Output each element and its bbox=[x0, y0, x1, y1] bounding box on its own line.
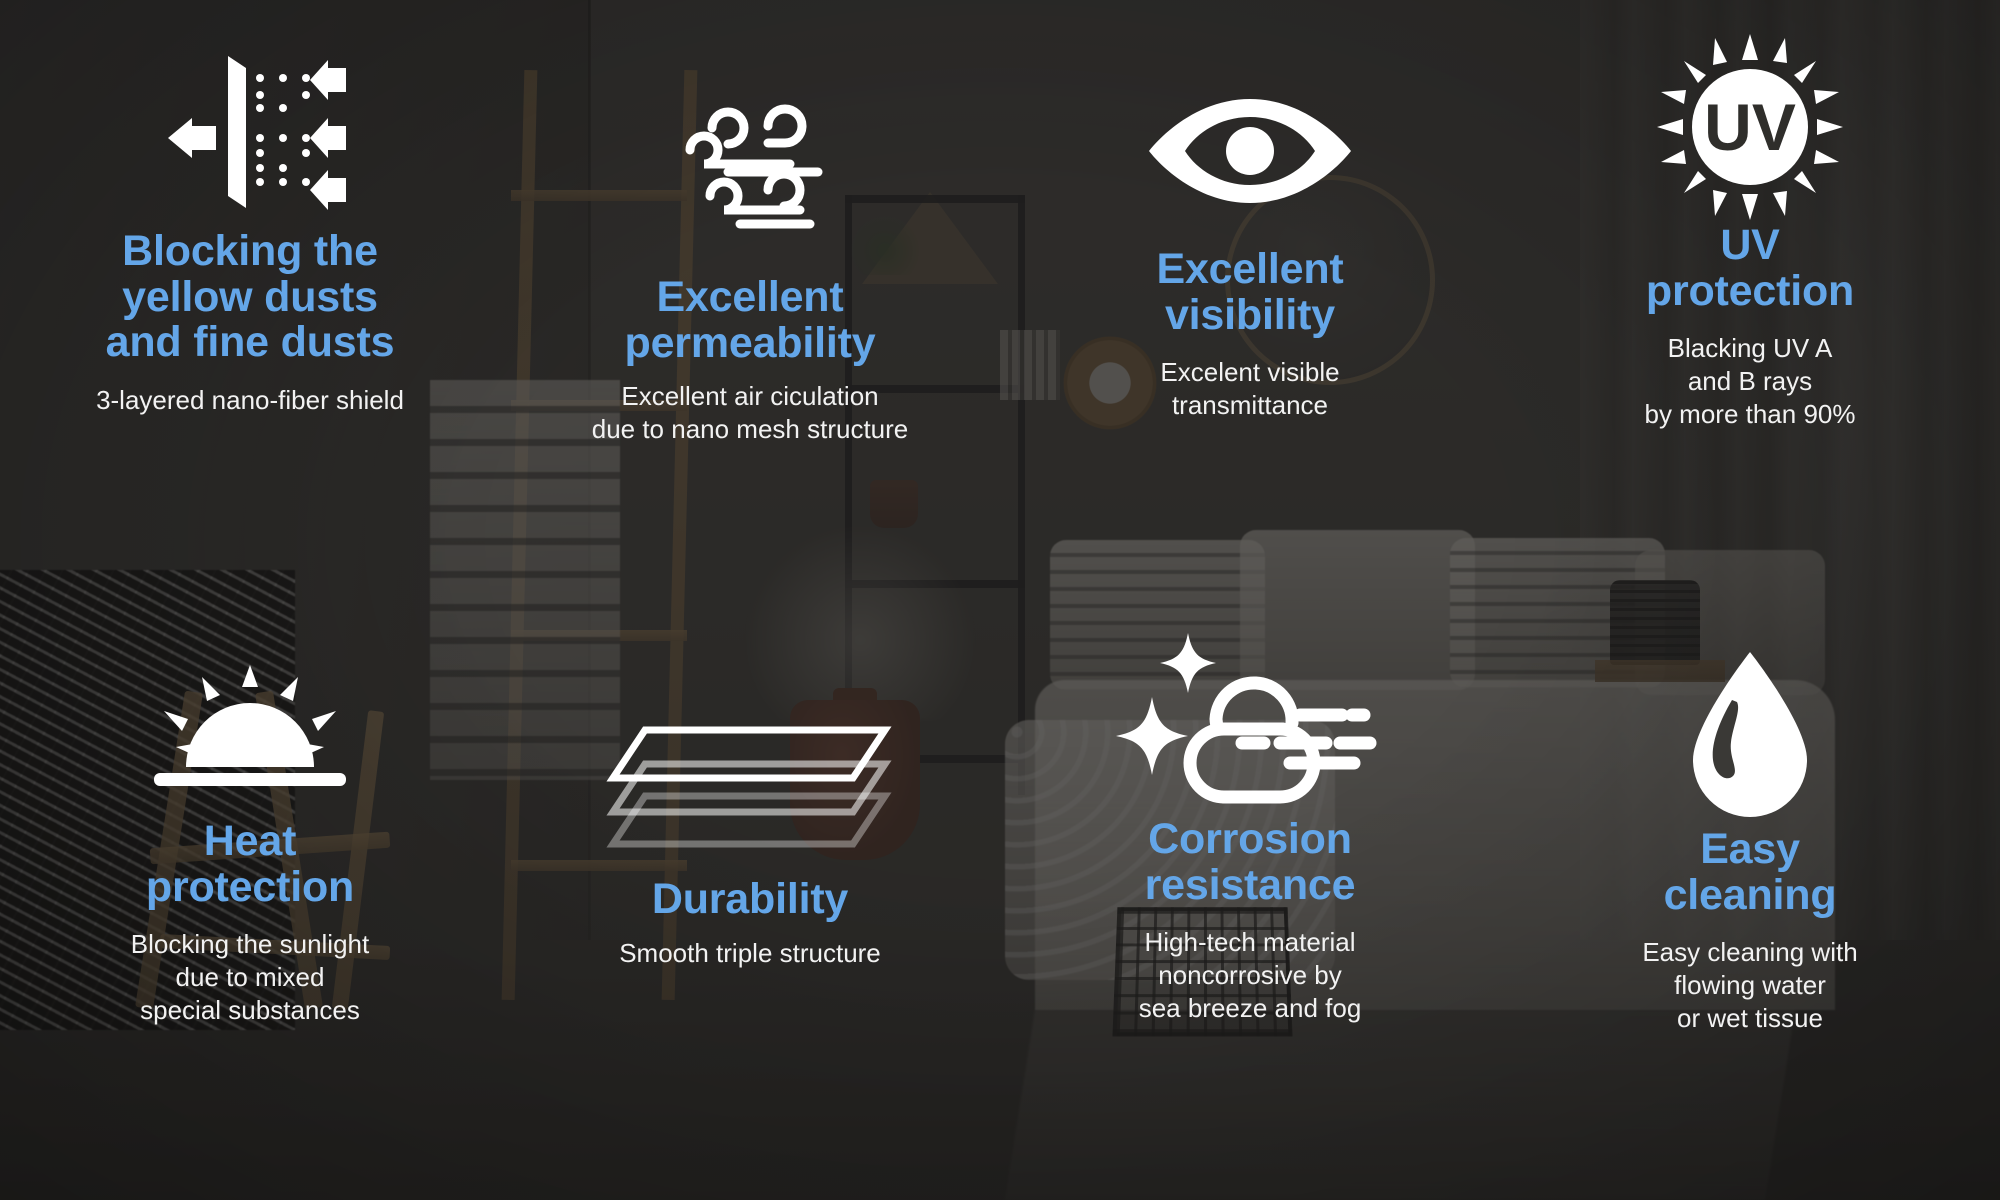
feature-corrosion-resistance: Corrosion resistance High-tech material … bbox=[1000, 600, 1500, 1200]
feature-description: Blacking UV A and B rays by more than 90… bbox=[1644, 332, 1855, 430]
feature-title: Excellent permeability bbox=[625, 275, 876, 366]
feature-easy-cleaning: Easy cleaning Easy cleaning with flowing… bbox=[1500, 600, 2000, 1200]
dust-barrier-icon bbox=[150, 50, 350, 215]
feature-permeability: Excellent permeability Excellent air cic… bbox=[500, 0, 1000, 600]
feature-title: Easy cleaning bbox=[1664, 827, 1837, 918]
feature-description: Excelent visible transmittance bbox=[1160, 356, 1339, 422]
triple-layers-icon bbox=[585, 708, 915, 863]
wind-icon bbox=[650, 96, 850, 261]
feature-description: Easy cleaning with flowing water or wet … bbox=[1642, 936, 1857, 1034]
feature-description: 3-layered nano-fiber shield bbox=[96, 384, 404, 417]
feature-title: UV protection bbox=[1646, 223, 1854, 314]
feature-description: High-tech material noncorrosive by sea b… bbox=[1139, 926, 1362, 1024]
water-drop-icon bbox=[1675, 658, 1825, 813]
feature-description: Blocking the sunlight due to mixed speci… bbox=[131, 928, 369, 1026]
uv-icon-label: UV bbox=[1704, 90, 1796, 164]
sunrise-icon bbox=[140, 650, 360, 805]
feature-title: Heat protection bbox=[146, 819, 354, 910]
eye-icon bbox=[1145, 68, 1355, 233]
feature-heat-protection: Heat protection Blocking the sunlight du… bbox=[0, 600, 500, 1200]
feature-title: Excellent visibility bbox=[1156, 247, 1343, 338]
feature-durability: Durability Smooth triple structure bbox=[500, 600, 1000, 1200]
infographic-root: Blocking the yellow dusts and fine dusts… bbox=[0, 0, 2000, 1200]
feature-description: Smooth triple structure bbox=[619, 937, 881, 970]
feature-title: Corrosion resistance bbox=[1145, 817, 1356, 908]
feature-grid: Blocking the yellow dusts and fine dusts… bbox=[0, 0, 2000, 1200]
feature-visibility: Excellent visibility Excelent visible tr… bbox=[1000, 0, 1500, 600]
feature-blocking-dusts: Blocking the yellow dusts and fine dusts… bbox=[0, 0, 500, 600]
feature-description: Excellent air ciculation due to nano mes… bbox=[592, 380, 909, 446]
feature-uv-protection: UV UV protection Blacking UV A and B ray… bbox=[1500, 0, 2000, 600]
feature-title: Durability bbox=[652, 877, 848, 923]
uv-sun-icon: UV bbox=[1655, 44, 1845, 209]
fog-cloud-sparkle-icon bbox=[1130, 648, 1370, 803]
feature-title: Blocking the yellow dusts and fine dusts bbox=[106, 229, 395, 366]
